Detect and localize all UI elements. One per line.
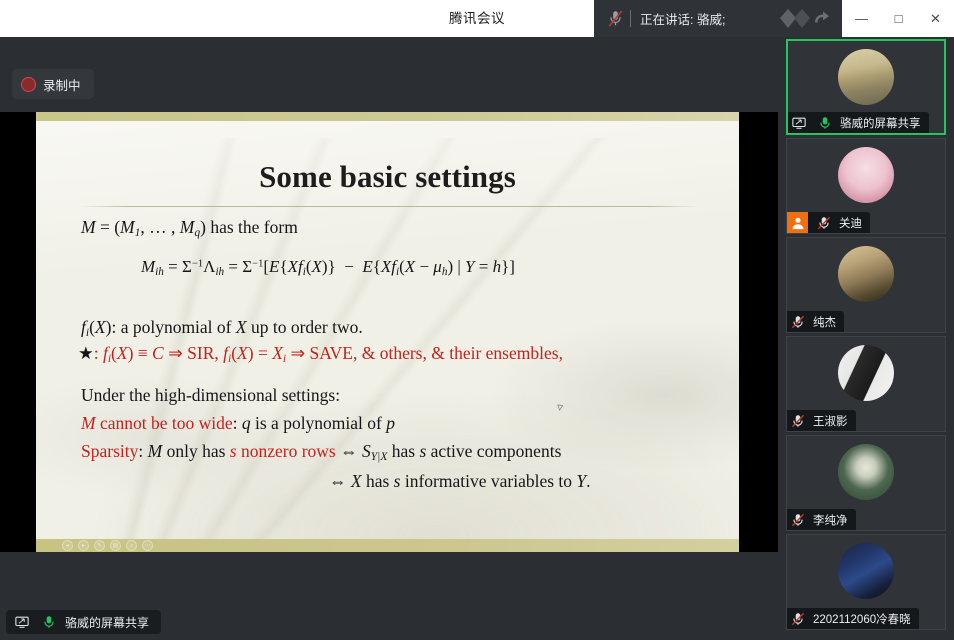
participant-name: 纯杰	[813, 314, 836, 330]
participant-namebar: 纯杰	[787, 311, 844, 332]
window-controls: — □ ✕	[842, 0, 954, 37]
slide-title: Some basic settings	[36, 159, 739, 195]
mouse-cursor-icon: ▿	[556, 400, 564, 415]
bottom-bar: 骆威的屏幕共享	[0, 604, 778, 640]
slide-content: Some basic settings M = (M1, … , Mq) has…	[36, 121, 739, 539]
participant-namebar: 王淑影	[787, 410, 856, 431]
avatar-stairs-photo	[838, 246, 894, 302]
slide-title-rule	[80, 206, 698, 207]
avatar-anime-girl	[838, 147, 894, 203]
participant-tile[interactable]: 王淑影	[786, 336, 946, 432]
avatar-beach-photo	[838, 49, 894, 105]
participant-tile[interactable]: 2202112060冷春晓	[786, 534, 946, 630]
participant-icon	[787, 212, 808, 233]
record-dot-icon	[21, 77, 36, 92]
avatar-sports-pair	[838, 543, 894, 599]
slide-line-form: M = (M1, … , Mq) has the form	[81, 217, 298, 239]
mic-muted-icon[interactable]	[787, 608, 808, 629]
next-slide-button[interactable]: ▸	[78, 540, 89, 551]
participant-tile[interactable]: 纯杰	[786, 237, 946, 333]
participant-tile-list[interactable]: 骆威的屏幕共享 关迪 纯杰 王淑影 李纯净 2202112060冷春晓	[786, 39, 948, 630]
shared-screen-region[interactable]: Some basic settings M = (M1, … , Mq) has…	[0, 112, 778, 552]
screen-share-icon	[788, 112, 809, 133]
participant-tile[interactable]: 李纯净	[786, 435, 946, 531]
slide-thumbnails-button[interactable]: ▤	[110, 540, 121, 551]
pen-tool-button[interactable]: ✎	[94, 540, 105, 551]
mic-on-icon[interactable]	[814, 112, 835, 133]
mic-muted-icon[interactable]	[787, 509, 808, 530]
participant-name: 李纯净	[813, 512, 848, 528]
participant-name: 王淑影	[813, 413, 848, 429]
divider	[630, 10, 631, 27]
zoom-tool-button[interactable]: ⌕	[126, 540, 137, 551]
participant-tile[interactable]: 骆威的屏幕共享	[786, 39, 946, 135]
recording-badge[interactable]: 录制中	[12, 69, 94, 99]
minimize-button[interactable]: —	[843, 0, 880, 37]
mic-muted-icon[interactable]	[787, 311, 808, 332]
presentation-controls[interactable]: ◂▸✎▤⌕⋯	[62, 539, 153, 552]
participant-namebar: 李纯净	[787, 509, 856, 530]
active-share-label: 骆威的屏幕共享	[65, 614, 149, 631]
close-button[interactable]: ✕	[917, 0, 954, 37]
participant-name: 关迪	[839, 215, 862, 231]
slide-line-iff: ⇔ X has s informative variables to Y.	[329, 471, 591, 492]
participant-namebar: 骆威的屏幕共享	[788, 112, 929, 133]
slide-line-polynomial: fi(X): a polynomial of X up to order two…	[81, 317, 363, 339]
participant-tile[interactable]: 关迪	[786, 138, 946, 234]
maximize-button[interactable]: □	[880, 0, 917, 37]
recording-label: 录制中	[43, 75, 81, 94]
slide-line-sparsity: Sparsity: M only has s nonzero rows ⇔ SY…	[81, 441, 561, 463]
slide-line-under: Under the high-dimensional settings:	[81, 385, 340, 406]
slide-line-formula: Mih = Σ−1Λih = Σ−1[E{Xfi(X)} − E{Xfi(X −…	[141, 257, 515, 278]
presentation-slide[interactable]: Some basic settings M = (M1, … , Mq) has…	[36, 112, 739, 552]
prev-slide-button[interactable]: ◂	[62, 540, 73, 551]
speaking-indicator[interactable]: 正在讲话: 骆威;	[594, 0, 846, 37]
window-titlebar: 腾讯会议 正在讲话: 骆威; — □ ✕	[0, 0, 954, 37]
screen-share-icon	[11, 612, 32, 633]
participant-namebar: 关迪	[787, 212, 870, 233]
participant-name: 骆威的屏幕共享	[840, 115, 921, 131]
participant-namebar: 2202112060冷春晓	[787, 608, 919, 629]
slide-line-star: ★: fi(X) ≡ C ⇒ SIR, fi(X) = Xi ⇒ SAVE, &…	[78, 343, 563, 365]
mic-muted-icon[interactable]	[813, 212, 834, 233]
speaking-label: 正在讲话: 骆威;	[640, 9, 725, 28]
participant-name: 2202112060冷春晓	[813, 611, 911, 627]
slide-line-wide: M cannot be too wide: q is a polynomial …	[81, 413, 395, 434]
mic-muted-icon[interactable]	[787, 410, 808, 431]
slide-top-band	[36, 112, 739, 121]
mic-muted-icon[interactable]	[602, 10, 628, 27]
star-icon: ★	[78, 343, 94, 363]
more-options-button[interactable]: ⋯	[142, 540, 153, 551]
avatar-chalkboard	[838, 444, 894, 500]
mic-on-icon	[38, 612, 59, 633]
avatar-portrait-bw	[838, 345, 894, 401]
titlebar-icon-group[interactable]	[778, 4, 840, 33]
active-share-indicator[interactable]: 骆威的屏幕共享	[6, 610, 161, 634]
